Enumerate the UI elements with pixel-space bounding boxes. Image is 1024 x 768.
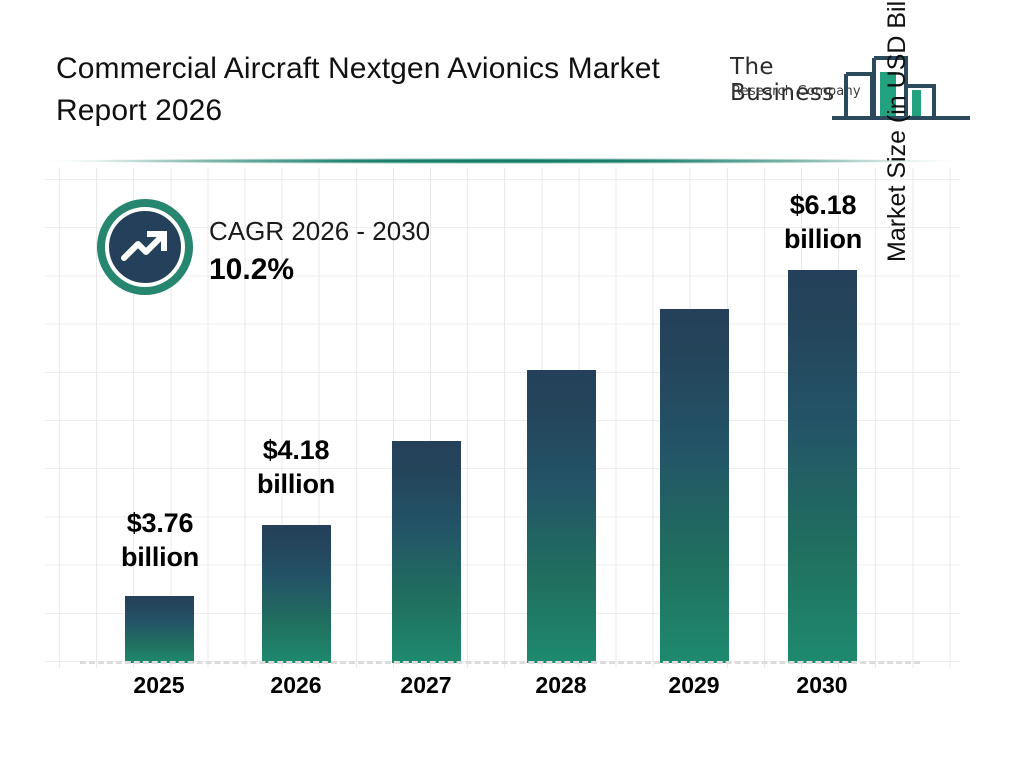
value-label-2026-line2: billion bbox=[241, 467, 351, 501]
bar-2025 bbox=[125, 596, 194, 663]
x-tick-2026: 2026 bbox=[241, 672, 351, 699]
cagr-circle bbox=[97, 199, 193, 295]
plot-area: $3.76 billion $4.18 billion $6.18 billio… bbox=[45, 168, 960, 668]
value-label-2025: $3.76 billion bbox=[105, 506, 215, 574]
bar-2027 bbox=[392, 441, 461, 663]
value-label-2026: $4.18 billion bbox=[241, 433, 351, 501]
x-tick-2025: 2025 bbox=[104, 672, 214, 699]
page-title: Commercial Aircraft Nextgen Avionics Mar… bbox=[56, 48, 676, 132]
cagr-label: CAGR 2026 - 2030 bbox=[209, 216, 430, 247]
y-axis-title: Market Size (in USD Billion) bbox=[883, 0, 912, 262]
trending-up-icon bbox=[119, 227, 171, 267]
axis-baseline bbox=[80, 661, 920, 664]
bar-2029 bbox=[660, 309, 729, 663]
cagr-circle-inner bbox=[105, 207, 185, 287]
x-tick-2030: 2030 bbox=[767, 672, 877, 699]
value-label-2030: $6.18 billion bbox=[768, 188, 878, 256]
bar-2026 bbox=[262, 525, 331, 663]
header: Commercial Aircraft Nextgen Avionics Mar… bbox=[0, 0, 1024, 160]
x-axis: 2025 2026 2027 2028 2029 2030 bbox=[45, 672, 960, 722]
value-label-2025-line2: billion bbox=[105, 540, 215, 574]
value-label-2030-line1: $6.18 bbox=[768, 188, 878, 222]
company-logo: The Business Research Company bbox=[722, 36, 972, 126]
x-tick-2027: 2027 bbox=[371, 672, 481, 699]
value-label-2026-line1: $4.18 bbox=[241, 433, 351, 467]
cagr-badge: CAGR 2026 - 2030 10.2% bbox=[97, 199, 527, 309]
bar-2030 bbox=[788, 270, 857, 663]
bar-2028 bbox=[527, 370, 596, 663]
value-label-2025-line1: $3.76 bbox=[105, 506, 215, 540]
value-label-2030-line2: billion bbox=[768, 222, 878, 256]
header-divider bbox=[45, 158, 960, 164]
x-tick-2028: 2028 bbox=[506, 672, 616, 699]
cagr-value: 10.2% bbox=[209, 253, 294, 287]
x-tick-2029: 2029 bbox=[639, 672, 749, 699]
chart-canvas: $3.76 billion $4.18 billion $6.18 billio… bbox=[45, 168, 960, 668]
chart-page: Commercial Aircraft Nextgen Avionics Mar… bbox=[0, 0, 1024, 768]
